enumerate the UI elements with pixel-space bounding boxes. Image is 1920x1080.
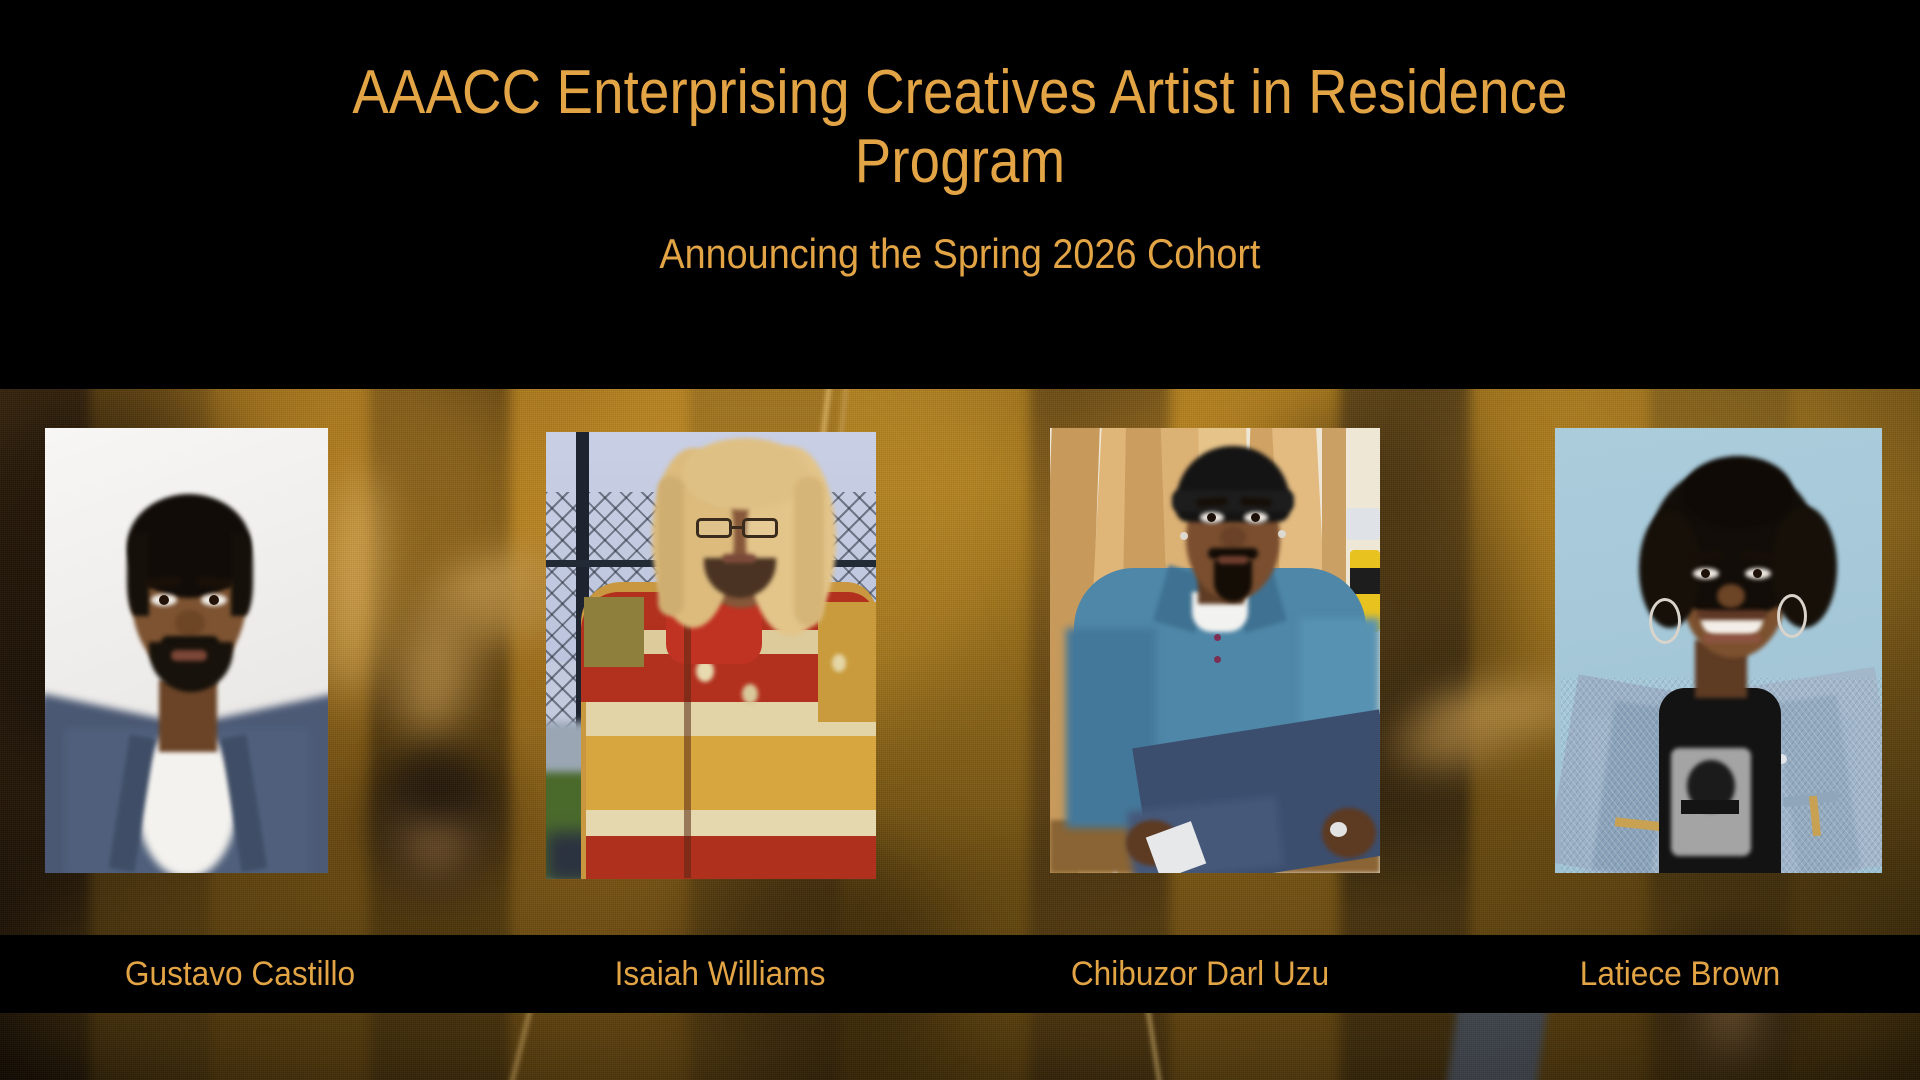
member-name-2: Chibuzor Darl Uzu xyxy=(977,935,1423,1013)
page-subtitle: Announcing the Spring 2026 Cohort xyxy=(659,229,1260,279)
page-title: AAACC Enterprising Creatives Artist in R… xyxy=(212,58,1708,197)
member-name-1: Isaiah Williams xyxy=(497,935,943,1013)
member-name-0: Gustavo Castillo xyxy=(17,935,463,1013)
portrait-chibuzor-darl-uzu[interactable] xyxy=(1050,428,1380,873)
title-band: AAACC Enterprising Creatives Artist in R… xyxy=(0,0,1920,389)
cohort-name-band: Gustavo Castillo Isaiah Williams Chibuzo… xyxy=(0,935,1920,1013)
cohort-portrait-strip xyxy=(0,389,1920,935)
portrait-gustavo-castillo[interactable] xyxy=(45,428,328,873)
portrait-isaiah-williams[interactable] xyxy=(546,432,876,879)
portrait-latiece-brown[interactable] xyxy=(1555,428,1882,873)
member-name-3: Latiece Brown xyxy=(1457,935,1903,1013)
presentation-slide: AAACC Enterprising Creatives Artist in R… xyxy=(0,0,1920,1080)
